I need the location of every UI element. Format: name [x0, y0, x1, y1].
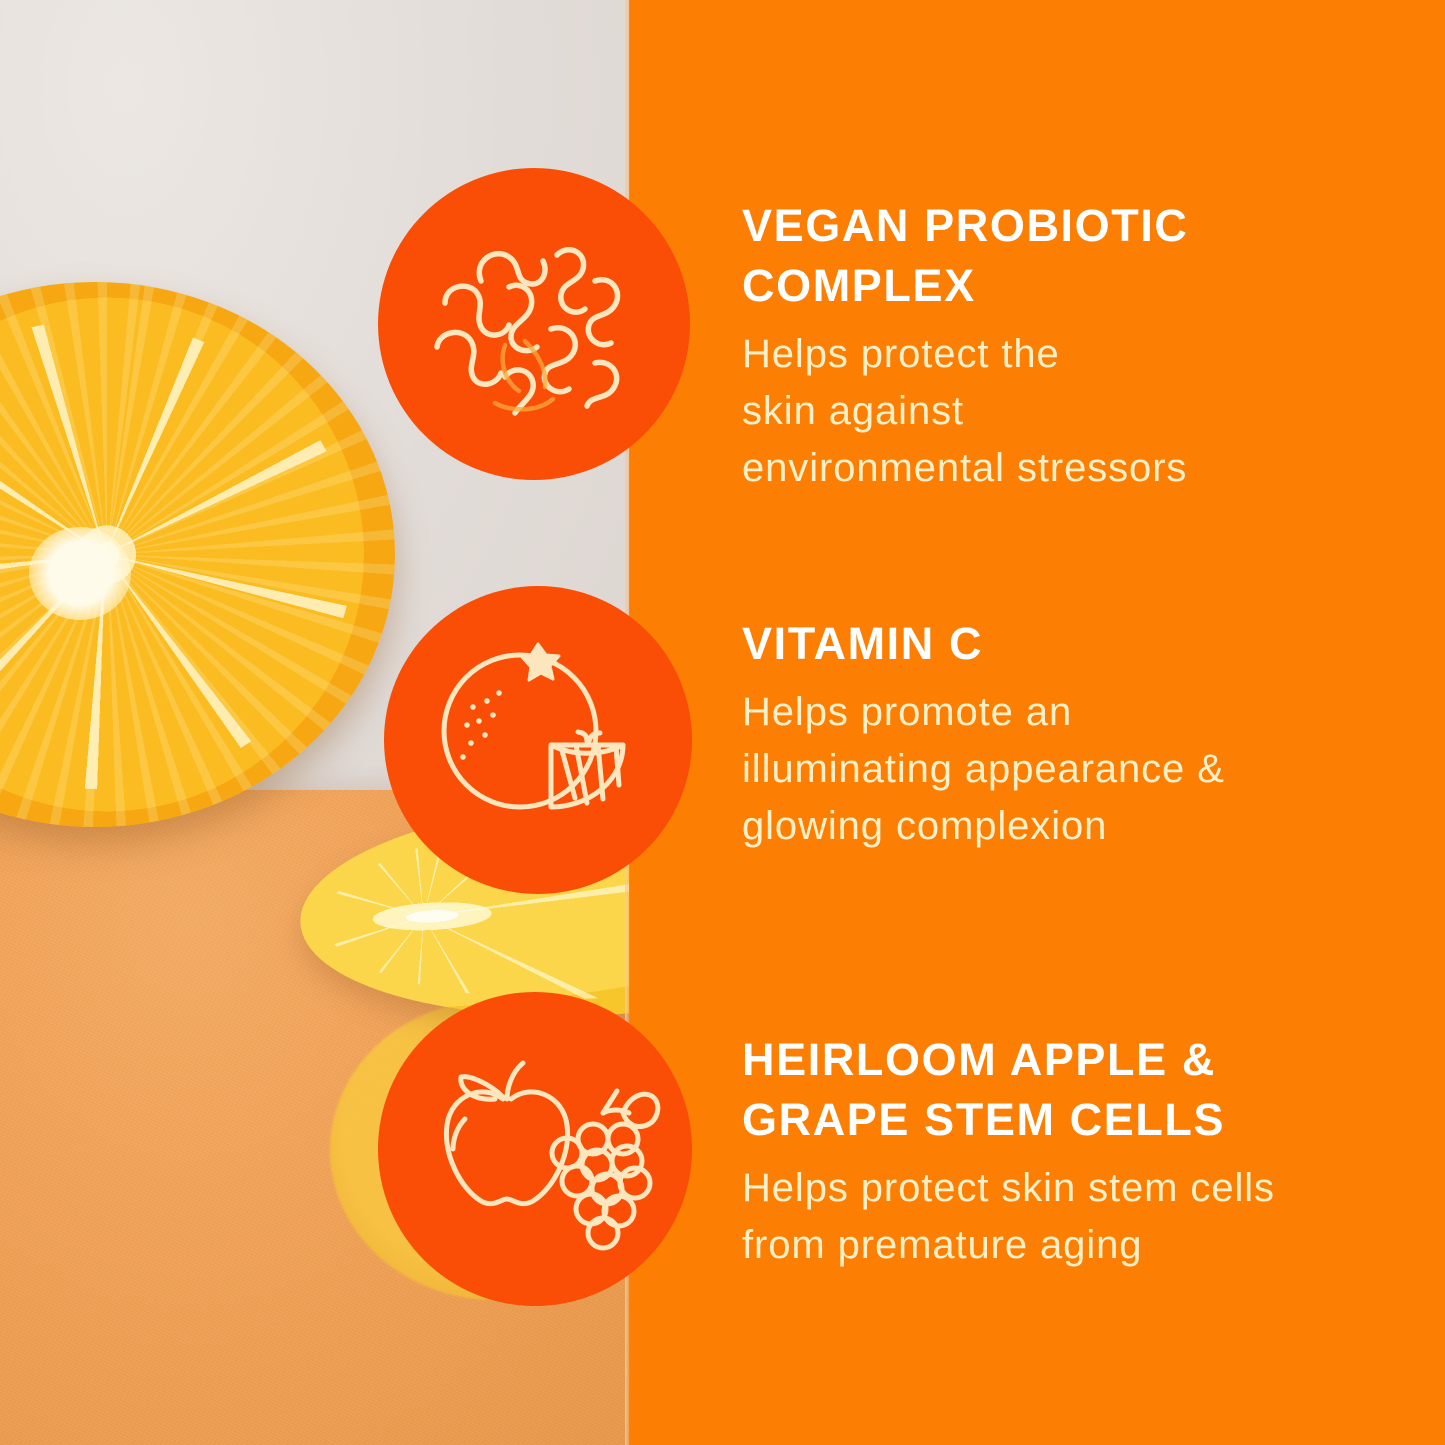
feature-description: Helps promote an illuminating appearance…: [742, 684, 1442, 855]
vitamin-c-badge: [384, 586, 692, 894]
apple-grapes-icon: [407, 1021, 663, 1277]
stem-cells-badge: [378, 992, 692, 1306]
feature-block-probiotic: VEGAN PROBIOTIC COMPLEX Helps protect th…: [742, 196, 1442, 497]
feature-description: Helps protect skin stem cells from prema…: [742, 1160, 1445, 1274]
feature-description: Helps protect the skin against environme…: [742, 326, 1442, 497]
feature-title: HEIRLOOM APPLE & GRAPE STEM CELLS: [742, 1030, 1445, 1150]
feature-block-vitamin-c: VITAMIN C Helps promote an illuminating …: [742, 614, 1442, 855]
feature-title: VITAMIN C: [742, 614, 1442, 674]
feature-title: VEGAN PROBIOTIC COMPLEX: [742, 196, 1442, 316]
probiotic-badge: [378, 168, 690, 480]
probiotic-bacteria-icon: [409, 199, 659, 449]
feature-block-stem-cells: HEIRLOOM APPLE & GRAPE STEM CELLS Helps …: [742, 1030, 1445, 1274]
product-ingredients-infographic: VEGAN PROBIOTIC COMPLEX Helps protect th…: [0, 0, 1445, 1445]
orange-fruit-slice-icon: [413, 615, 663, 865]
